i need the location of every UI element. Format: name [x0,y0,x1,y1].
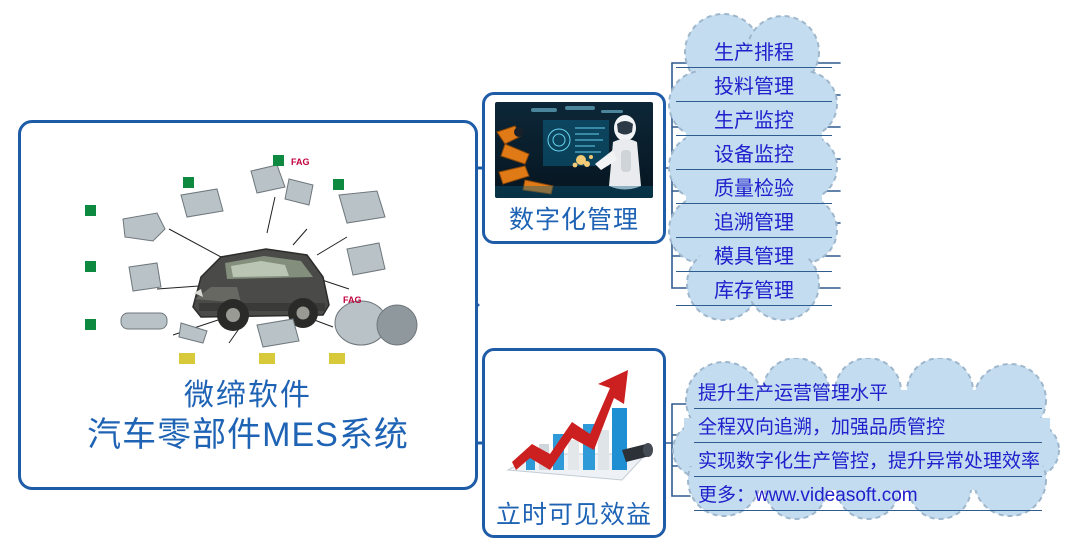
module-label: 投料管理 [714,70,794,99]
page-title: 微缔软件 汽车零部件MES系统 [21,378,475,456]
photo-frame [495,102,653,198]
benefit-label: 提升生产运营管理水平 [698,378,888,405]
benefits-list: 提升生产运营管理水平 全程双向追溯，加强品质管控 实现数字化生产管控，提升异常处… [672,358,1060,520]
module-label: 生产监控 [714,104,794,133]
branch-card-digital[interactable]: 数字化管理 [482,92,666,244]
module-label: 模具管理 [714,240,794,269]
benefit-label: 实现数字化生产管控，提升异常处理效率 [698,446,1040,473]
diagram-canvas: 生产排程 投料管理 生产监控 设备监控 质量检验 追溯管理 模具管理 库存管理 [0,0,1065,559]
module-item[interactable]: 追溯管理 [676,204,832,238]
benefit-item[interactable]: 全程双向追溯，加强品质管控 [694,409,1042,443]
module-item[interactable]: 模具管理 [676,238,832,272]
branch-label: 数字化管理 [509,200,639,236]
module-label: 追溯管理 [714,206,794,235]
module-item[interactable]: 质量检验 [676,170,832,204]
benefit-label: 更多：www.videasoft.com [698,480,918,507]
benefit-item-more[interactable]: 更多：www.videasoft.com [694,477,1042,511]
module-label: 生产排程 [714,36,794,65]
car-parts-exploded-diagram-icon: FAG FAG [61,137,441,377]
svg-text:FAG: FAG [343,295,362,305]
module-label: 质量检验 [714,172,794,201]
product-brand: 微缔软件 [21,378,475,415]
branch-card-benefit[interactable]: 立时可见效益 [482,348,666,538]
benefit-item[interactable]: 实现数字化生产管控，提升异常处理效率 [694,443,1042,477]
benefit-label: 全程双向追溯，加强品质管控 [698,412,945,439]
branch-label: 立时可见效益 [496,495,652,531]
main-product-card[interactable]: FAG FAG 微缔软件 汽车零部件MES系统 [18,120,478,490]
product-name: 汽车零部件MES系统 [21,415,475,456]
module-label: 设备监控 [714,138,794,167]
module-item[interactable]: 投料管理 [676,68,832,102]
module-item[interactable]: 设备监控 [676,136,832,170]
smart-factory-robot-photo-icon [495,102,653,198]
module-item[interactable]: 生产监控 [676,102,832,136]
modules-list: 生产排程 投料管理 生产监控 设备监控 质量检验 追溯管理 模具管理 库存管理 [668,12,840,322]
module-item[interactable]: 生产排程 [676,34,832,68]
svg-text:FAG: FAG [291,157,310,167]
photo-frame [494,358,654,493]
benefit-item[interactable]: 提升生产运营管理水平 [694,375,1042,409]
module-item[interactable]: 库存管理 [676,272,832,306]
rising-red-arrow-bar-chart-icon [494,358,654,493]
module-label: 库存管理 [714,274,794,303]
